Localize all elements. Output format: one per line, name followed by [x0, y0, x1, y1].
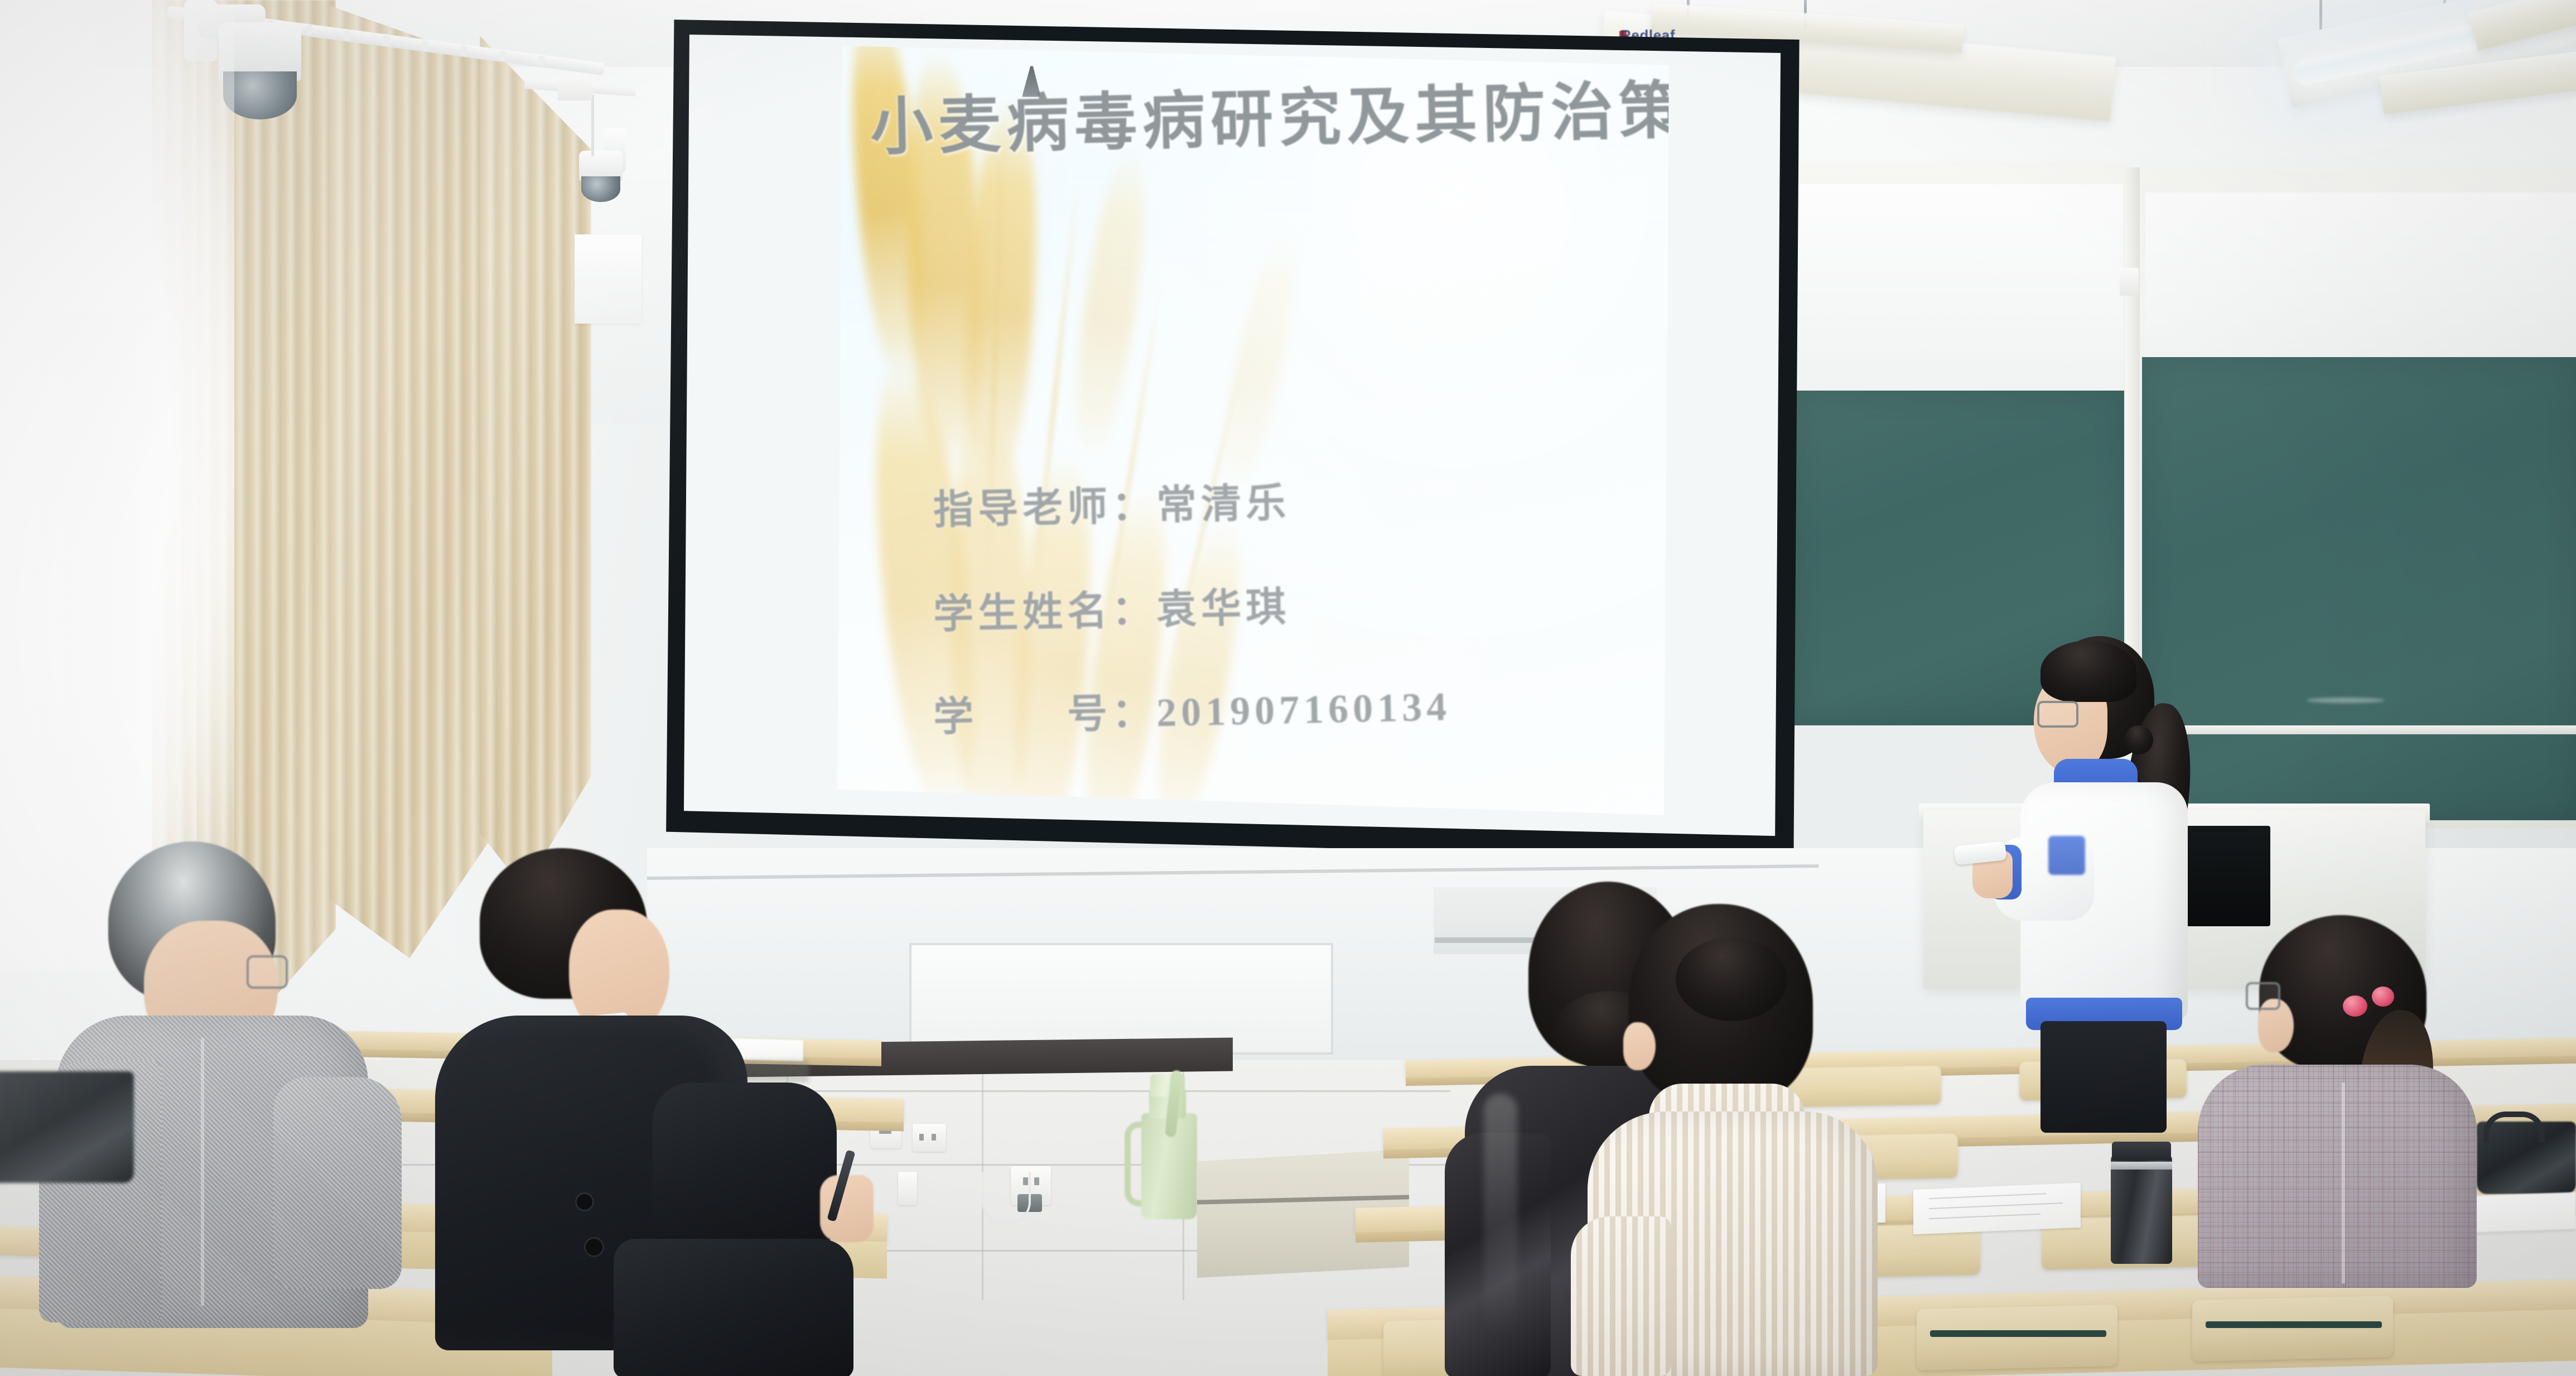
- chalkboard-panel-upper-right: [2145, 193, 2576, 357]
- slide-student-line: 学生姓名：袁华琪: [933, 574, 1291, 640]
- hair-tie-1: [2343, 995, 2367, 1017]
- slide-title: 小麦病毒病研究及其防治策略: [869, 60, 1647, 167]
- panelist-2-lap: [614, 1239, 853, 1376]
- audience-2: [1556, 904, 1936, 1376]
- presenter-glasses: [2037, 701, 2078, 728]
- panelist-1-sleeve: [273, 1077, 402, 1289]
- wall-outlet-4[interactable]: [898, 1172, 917, 1205]
- wall-panel-box: [575, 234, 641, 324]
- audience-3-blazer: [2198, 1065, 2477, 1288]
- slide-advisor-line: 指导老师：常清乐: [933, 469, 1291, 535]
- classroom-photo: Redleaf 小麦病毒病研究及其防治策略 指导老师：常清乐 学生姓名：袁华琪 …: [0, 0, 2576, 1376]
- panelist-1-glasses: [247, 955, 288, 989]
- chair-frame-r1-b: [2206, 1321, 2382, 1328]
- tumbler-band: [2111, 1162, 2172, 1170]
- panelist-1-collar-seam: [201, 1038, 204, 1306]
- power-cord: [982, 1172, 1031, 1224]
- floor-bag-left[interactable]: [0, 1071, 134, 1183]
- chalkboard-panel-upper-left: [1795, 184, 2123, 391]
- chalk-smudge: [2307, 697, 2385, 703]
- panelist-2-sleeve: [653, 1082, 837, 1250]
- presenter-trousers: [2040, 1021, 2167, 1133]
- board-outlet: [2120, 268, 2139, 296]
- wall-outlet-2[interactable]: [913, 1124, 946, 1152]
- panelist-2-button-1: [577, 1194, 592, 1210]
- audience-1-jacket-sheen: [1484, 1094, 1517, 1339]
- tumbler-lid[interactable]: [2112, 1142, 2171, 1161]
- panelist-2: [430, 848, 820, 1376]
- hair-tie-2: [2372, 987, 2394, 1007]
- presenter-fringe: [2040, 641, 2136, 702]
- camera-dome-icon-2: [581, 176, 620, 202]
- presenter-logo: [2048, 836, 2085, 875]
- audience-3: [2175, 915, 2521, 1306]
- wall-junction-box: [558, 78, 592, 100]
- camera-cable: [591, 95, 594, 156]
- slide-student-id-line: 学 号：201907160134: [933, 673, 1451, 742]
- chair-frame-r1-a: [1930, 1330, 2106, 1337]
- evaluation-form-r2-b[interactable]: [1913, 1183, 2081, 1235]
- audience-2-sleeve: [1571, 1216, 1671, 1376]
- chair-r1-a[interactable]: [1917, 1305, 2117, 1370]
- panelist-2-button-2: [586, 1239, 602, 1255]
- panelist-2-hand: [820, 1175, 874, 1242]
- audience-3-glasses: [2246, 982, 2280, 1010]
- audience-2-bun: [1676, 937, 1787, 1021]
- wall-recess-panel: [909, 943, 1333, 1055]
- travel-tumbler[interactable]: [2111, 1155, 2172, 1264]
- audience-2-ear: [1623, 1022, 1656, 1070]
- projected-slide: 小麦病毒病研究及其防治策略 指导老师：常清乐 学生姓名：袁华琪 学 号：2019…: [832, 35, 1676, 839]
- audience-3-blazer-seam: [2342, 1082, 2345, 1283]
- presenter-ponytail-tie: [2124, 725, 2153, 754]
